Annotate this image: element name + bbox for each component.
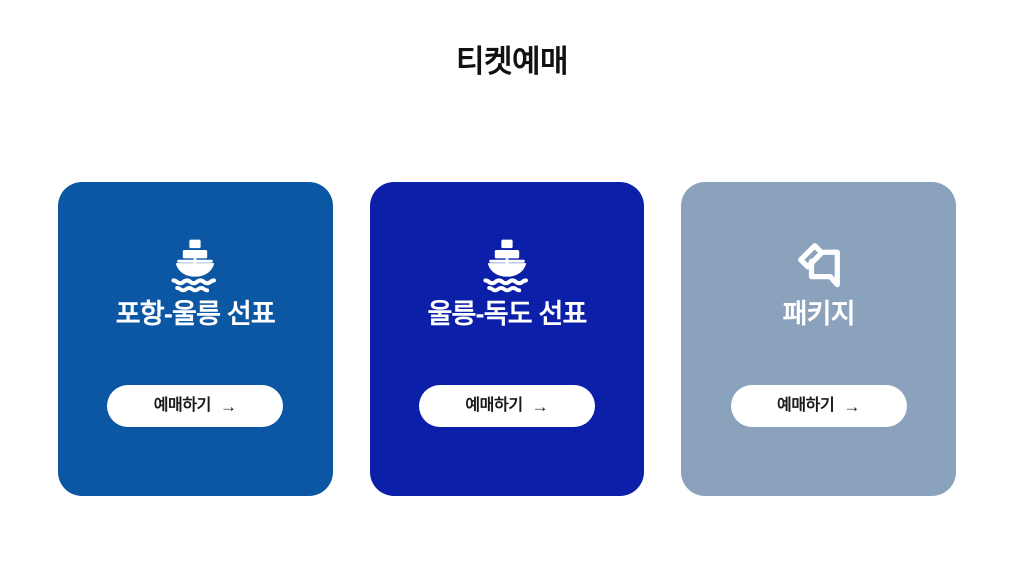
- ticket-card-ulleung-dokdo[interactable]: 울릉-독도 선표 예매하기 →: [370, 182, 645, 496]
- arrow-right-icon: →: [220, 398, 237, 415]
- ticket-card-pohang-ulleung[interactable]: 포항-울릉 선표 예매하기 →: [58, 182, 333, 496]
- ferry-icon: [477, 234, 537, 294]
- card-label: 포항-울릉 선표: [116, 298, 275, 332]
- ferry-icon: [165, 234, 225, 294]
- book-now-button[interactable]: 예매하기 →: [107, 385, 283, 427]
- page-title: 티켓예매: [0, 43, 1024, 80]
- book-now-label: 예매하기: [465, 398, 522, 414]
- book-now-button[interactable]: 예매하기 →: [731, 385, 907, 427]
- arrow-right-icon: →: [532, 398, 549, 415]
- book-now-label: 예매하기: [154, 398, 211, 414]
- book-now-button[interactable]: 예매하기 →: [419, 385, 595, 427]
- card-label: 패키지: [783, 298, 855, 332]
- ticket-card-list: 포항-울릉 선표 예매하기 → 울릉-독도 선표 예매하기: [58, 182, 956, 496]
- ticket-card-package[interactable]: 패키지 예매하기 →: [681, 182, 956, 496]
- chat-edit-icon: [789, 234, 849, 294]
- arrow-right-icon: →: [843, 398, 860, 415]
- card-label: 울릉-독도 선표: [427, 298, 586, 332]
- book-now-label: 예매하기: [777, 398, 834, 414]
